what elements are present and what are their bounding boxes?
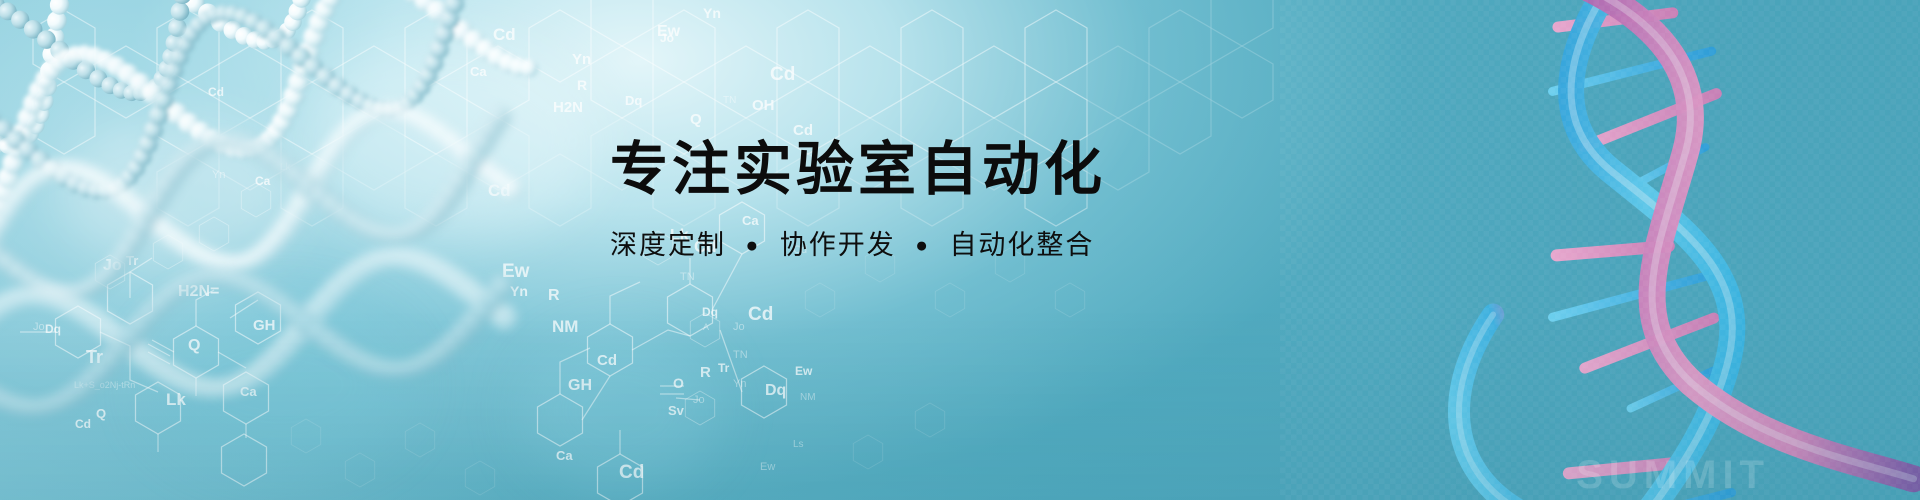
watermark-text: SUMMIT bbox=[1576, 453, 1770, 498]
subtitle-item-2: 协作开发 bbox=[780, 230, 896, 260]
bullet-separator-icon: ● bbox=[736, 234, 771, 258]
hero-copy-block: 专注实验室自动化 深度定制 ● 协作开发 ● 自动化整合 bbox=[610, 140, 1350, 262]
subtitle-item-3: 自动化整合 bbox=[949, 230, 1094, 260]
page-subtitle: 深度定制 ● 协作开发 ● 自动化整合 bbox=[610, 223, 1350, 262]
hero-banner: CdJoYnEwCdYnH2NCaRDqOHTNCdQCdLkCdCaAEwRT… bbox=[0, 0, 1920, 500]
subtitle-item-1: 深度定制 bbox=[610, 230, 726, 260]
bullet-separator-icon-2: ● bbox=[905, 234, 940, 258]
page-title: 专注实验室自动化 bbox=[610, 140, 1350, 201]
